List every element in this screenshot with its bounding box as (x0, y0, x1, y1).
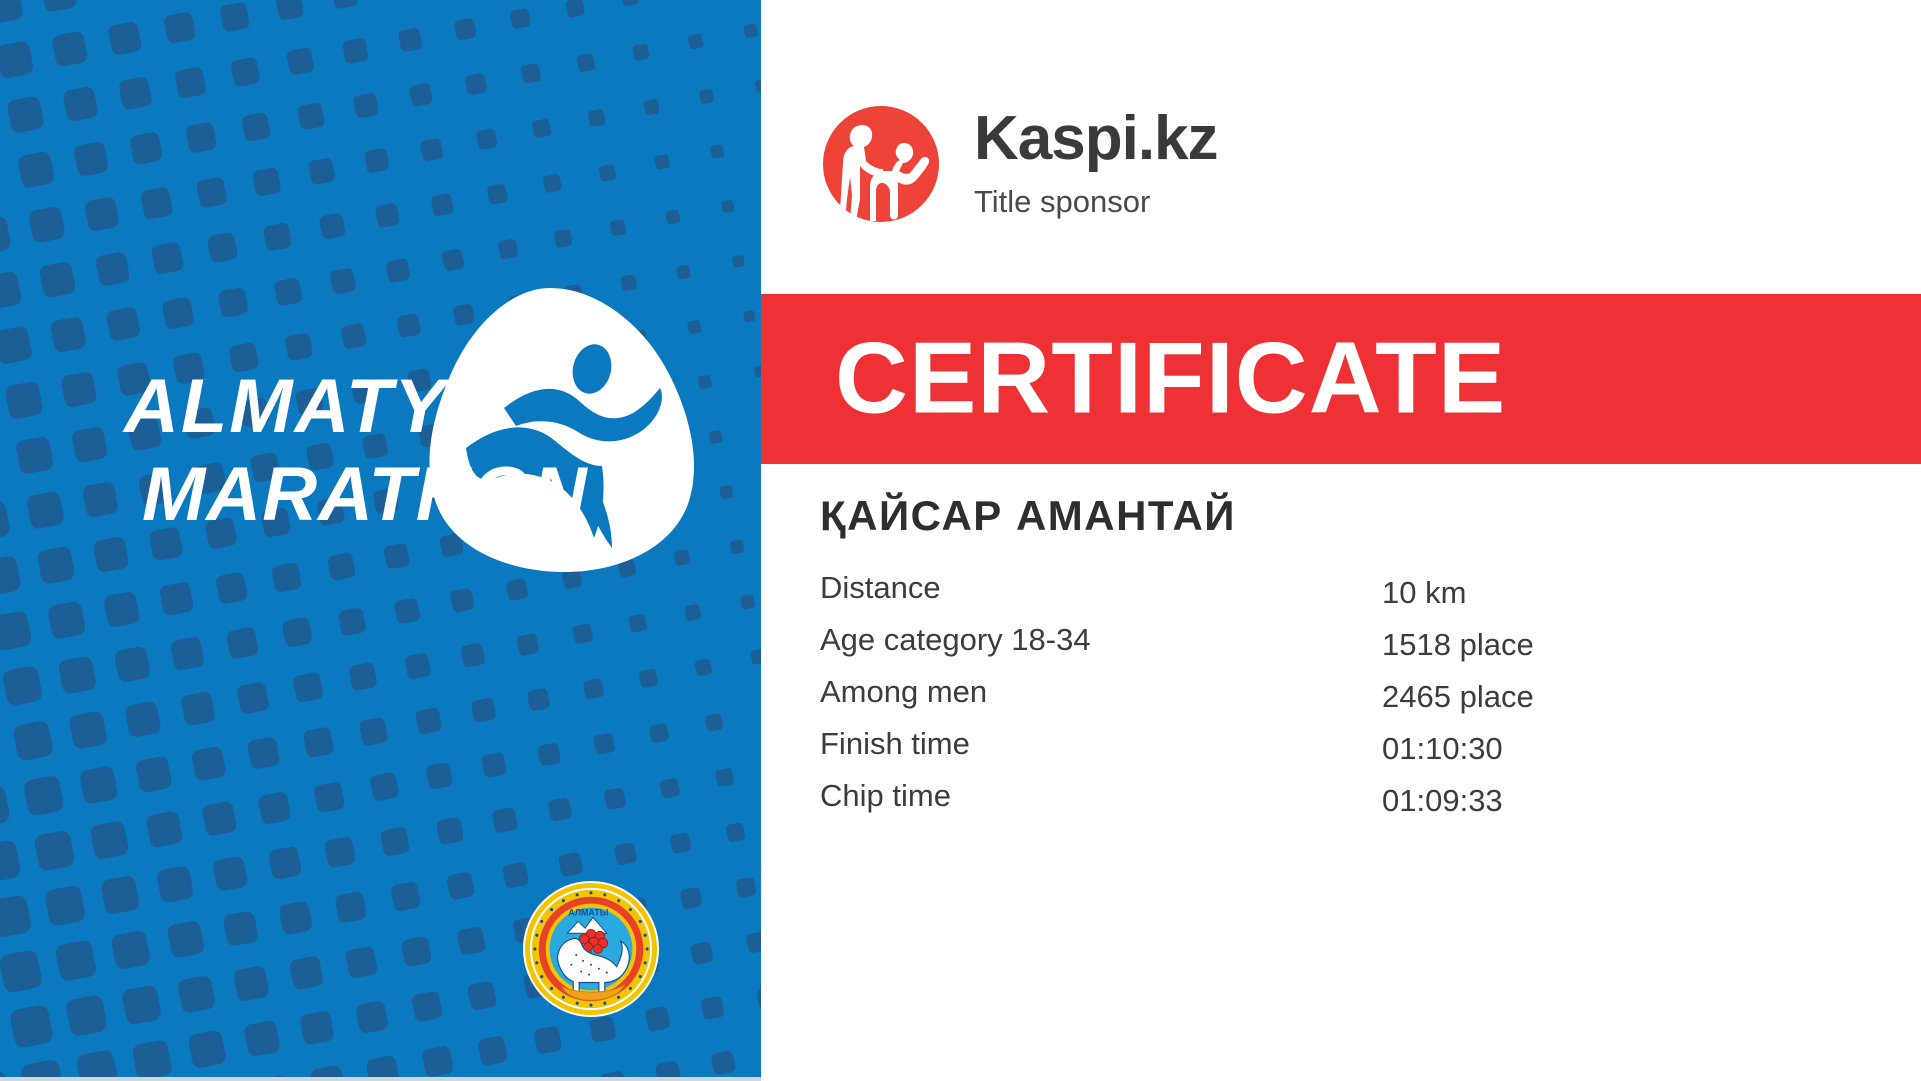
result-label: Chip time (820, 780, 951, 811)
panel-bottom-divider (0, 1077, 761, 1081)
left-brand-panel: ALMATY MARATHON (0, 0, 761, 1081)
result-value: 01:10:30 (1382, 733, 1503, 764)
certificate-banner: CERTIFICATE (761, 294, 1921, 464)
certificate-canvas: ALMATY MARATHON (0, 0, 1921, 1081)
result-row: Age category 18-341518 place (820, 624, 1820, 676)
result-label: Age category 18-34 (820, 624, 1091, 655)
title-sponsor-block: Kaspi.kz Title sponsor (820, 103, 1218, 225)
certificate-title: CERTIFICATE (835, 329, 1506, 430)
result-row: Distance10 km (820, 572, 1820, 624)
result-value: 1518 place (1382, 629, 1534, 660)
result-value: 10 km (1382, 577, 1466, 608)
result-row: Among men2465 place (820, 676, 1820, 728)
sponsor-role: Title sponsor (974, 186, 1218, 217)
result-label: Finish time (820, 728, 970, 759)
result-label: Among men (820, 676, 987, 707)
almaty-marathon-logo: ALMATY MARATHON (120, 280, 700, 610)
result-value: 2465 place (1382, 681, 1534, 712)
athlete-name: ҚАЙСАР АМАНТАЙ (820, 495, 1236, 537)
kaspi-logo-icon (820, 103, 942, 225)
logo-text-line2: MARATHON (142, 452, 589, 537)
result-row: Chip time01:09:33 (820, 780, 1820, 832)
right-content-panel: Kaspi.kz Title sponsor (761, 0, 1921, 1081)
logo-text-line1: ALMATY (122, 364, 451, 449)
sponsor-name: Kaspi.kz (974, 108, 1218, 170)
result-label: Distance (820, 572, 941, 603)
result-row: Finish time01:10:30 (820, 728, 1820, 780)
sponsor-text-block: Kaspi.kz Title sponsor (974, 103, 1218, 217)
almaty-city-emblem-icon: АЛМАТЫ (522, 880, 660, 1018)
result-value: 01:09:33 (1382, 785, 1503, 816)
svg-text:АЛМАТЫ: АЛМАТЫ (568, 907, 608, 917)
results-table: Distance10 kmAge category 18-341518 plac… (820, 572, 1820, 832)
